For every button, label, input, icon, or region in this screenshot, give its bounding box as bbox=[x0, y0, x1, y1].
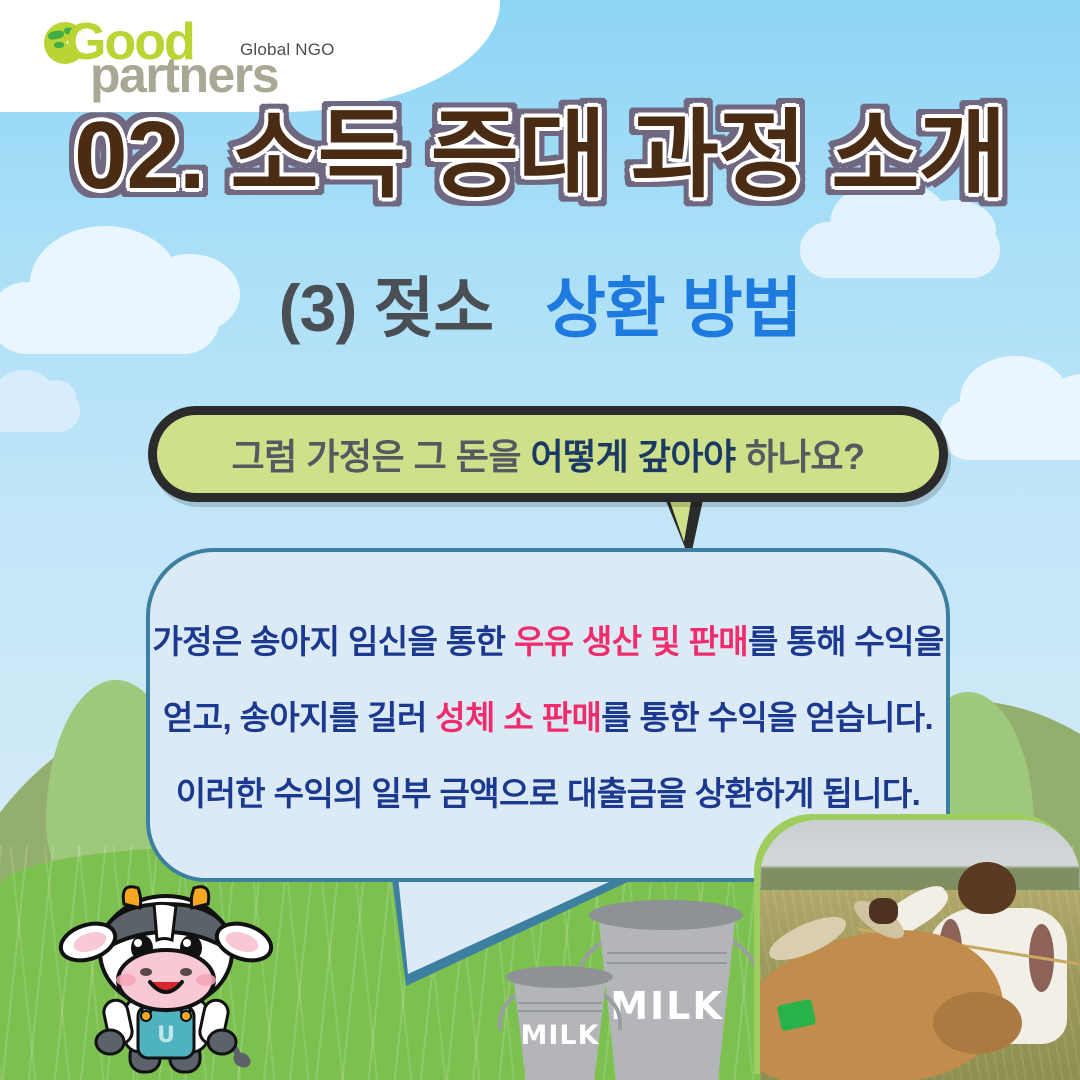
body-line-2-highlight: 성체 소 판매 bbox=[435, 699, 601, 736]
infographic-card: Good partners Global NGO 02. 소득 증대 과정 소개… bbox=[0, 0, 1080, 1080]
bucket-label: MILK bbox=[508, 1020, 612, 1051]
body-line-1: 가정은 송아지 임신을 통한 우유 생산 및 판매를 통해 수익을 bbox=[152, 615, 943, 663]
bucket-rim bbox=[506, 966, 613, 988]
cow-mascot: U bbox=[58, 880, 274, 1080]
logo-tagline: Global NGO bbox=[240, 40, 335, 60]
body-line-1-highlight: 우유 생산 및 판매 bbox=[514, 623, 748, 660]
cloud-icon bbox=[940, 400, 1080, 460]
question-text: 그럼 가정은 그 돈을 어떻게 갚아야 하나요? bbox=[231, 428, 864, 480]
subtitle-dark-part: (3) 젖소 bbox=[279, 271, 493, 345]
question-text-lead: 그럼 가정은 그 돈을 bbox=[231, 436, 530, 477]
brand-logo: Good partners Global NGO bbox=[44, 14, 364, 90]
body-line-1-b: 를 통해 수익을 bbox=[748, 623, 944, 660]
question-text-emphasis: 어떻게 갚아야 bbox=[530, 436, 735, 477]
question-bubble: 그럼 가정은 그 돈을 어떻게 갚아야 하나요? bbox=[148, 406, 948, 502]
photo-content bbox=[760, 820, 1080, 1080]
body-line-2-b: 를 통한 수익을 얻습니다. bbox=[601, 699, 933, 736]
question-text-trail: 하나요? bbox=[736, 436, 865, 477]
mascot-badge-letter: U bbox=[157, 1023, 175, 1048]
body-line-3: 이러한 수익의 일부 금액으로 대출금을 상환하게 됩니다. bbox=[176, 767, 920, 815]
field-photo bbox=[760, 820, 1080, 1080]
body-line-2-a: 얻고, 송아지를 길러 bbox=[163, 699, 435, 736]
page-title: 02. 소득 증대 과정 소개 bbox=[74, 104, 1006, 208]
page-subtitle: (3) 젖소 상환 방법 bbox=[0, 272, 1080, 345]
body-line-1-a: 가정은 송아지 임신을 통한 bbox=[152, 623, 514, 660]
subtitle-blue-part: 상환 방법 bbox=[545, 271, 801, 345]
cow-mascot-icon: U bbox=[58, 880, 274, 1080]
page-title-row: 02. 소득 증대 과정 소개 bbox=[0, 104, 1080, 208]
cloud-icon bbox=[800, 222, 1000, 278]
milk-bucket-small: MILK bbox=[508, 966, 612, 1080]
milk-bucket-large: MILK bbox=[592, 900, 742, 1080]
body-line-3-a: 이러한 수익의 일부 금액으로 대출금을 상환하게 됩니다. bbox=[176, 775, 920, 812]
cloud-icon bbox=[0, 390, 80, 432]
body-line-2: 얻고, 송아지를 길러 성체 소 판매를 통한 수익을 얻습니다. bbox=[163, 691, 933, 739]
bucket-rim bbox=[589, 900, 743, 930]
